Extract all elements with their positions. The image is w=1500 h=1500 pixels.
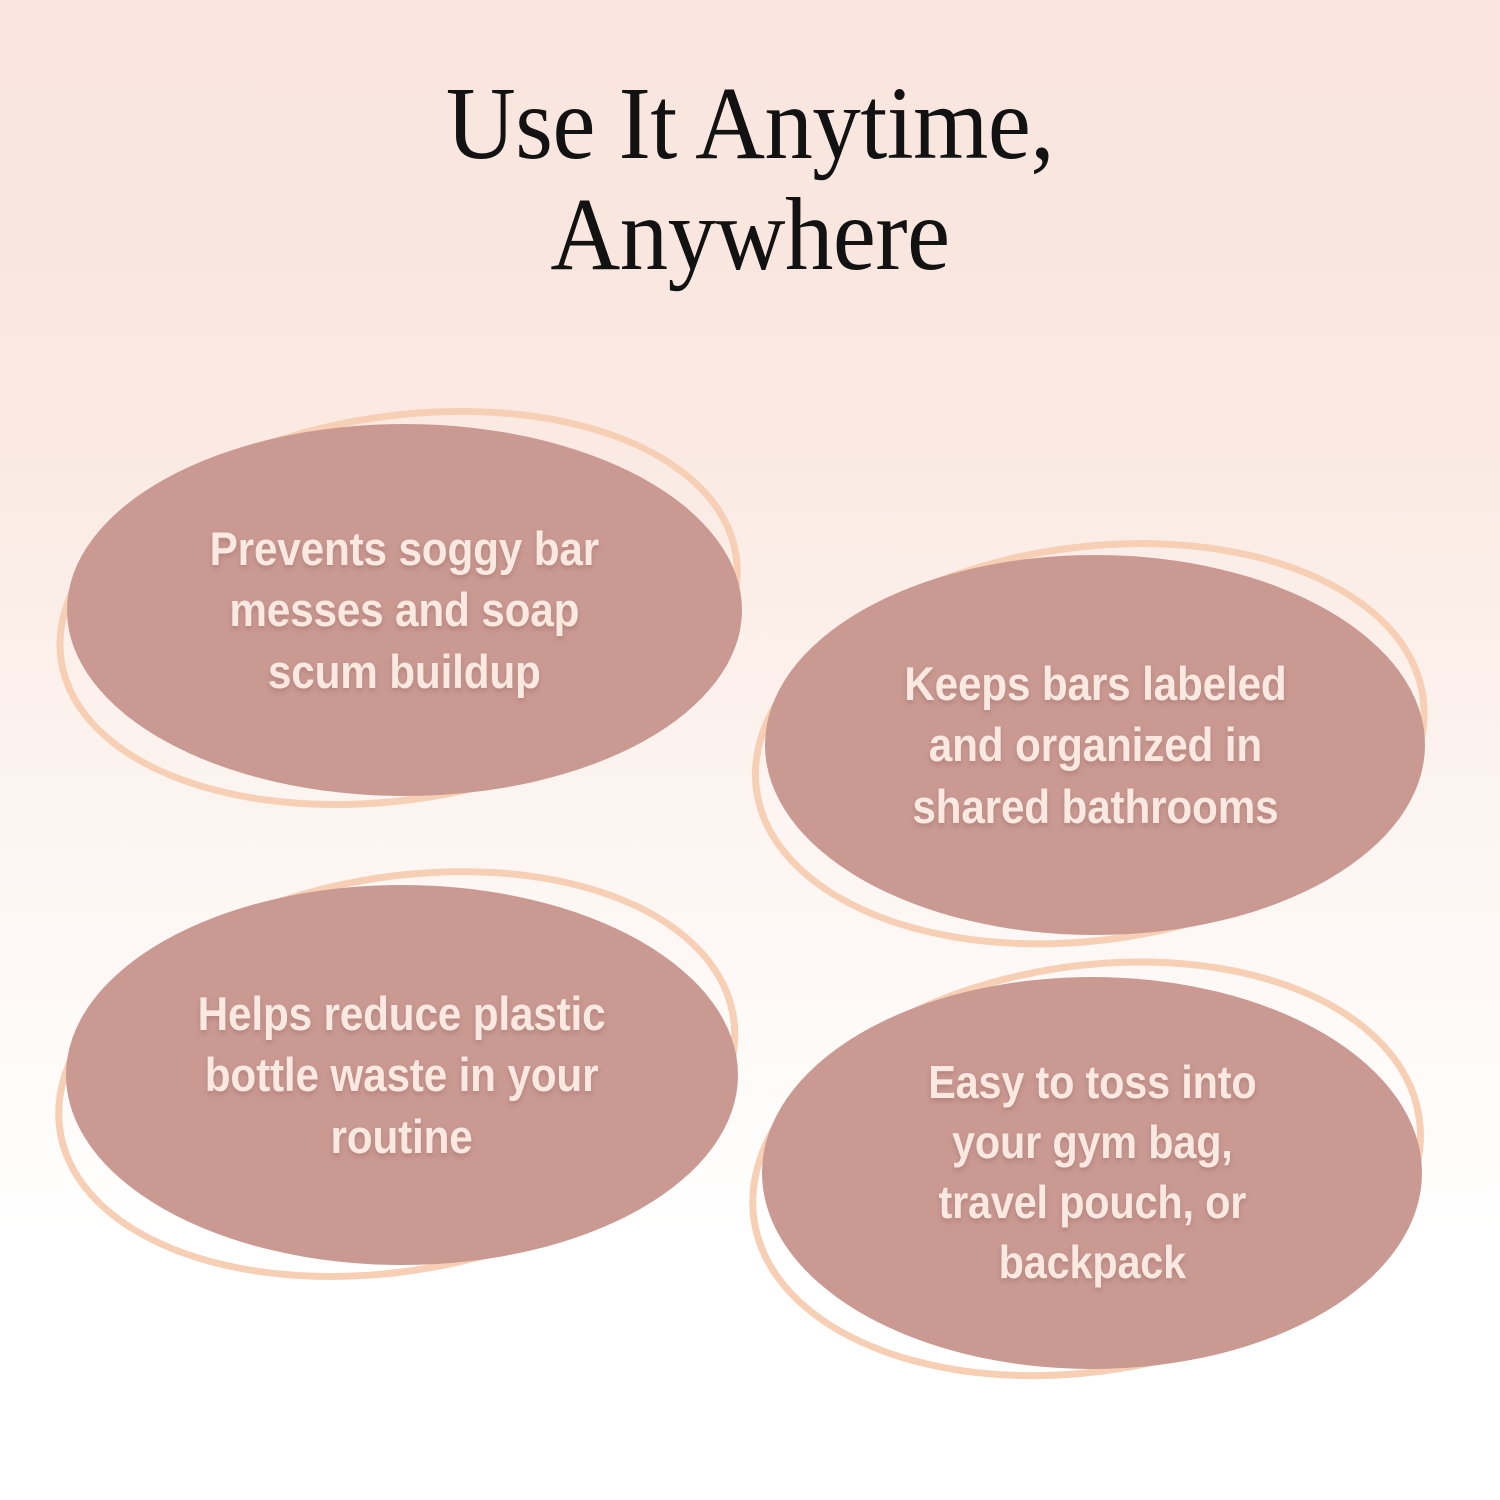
page-title: Use It Anytime, Anywhere — [0, 68, 1500, 291]
benefit-bubble-helps-reduce-plastic-waste: Helps reduce plastic bottle waste in you… — [58, 875, 748, 1275]
benefit-bubble-prevents-soggy-bar-messes: Prevents soggy bar messes and soap scum … — [60, 415, 750, 805]
bubble-fill: Helps reduce plastic bottle waste in you… — [66, 885, 738, 1265]
bubble-fill: Keeps bars labeled and organized in shar… — [765, 555, 1425, 935]
benefit-bubble-label: Easy to toss into your gym bag, travel p… — [922, 1053, 1261, 1292]
bubble-fill: Prevents soggy bar messes and soap scum … — [67, 424, 742, 796]
bubble-fill: Easy to toss into your gym bag, travel p… — [762, 977, 1422, 1369]
page-title-line-2: Anywhere — [53, 179, 1448, 290]
benefit-bubble-label: Prevents soggy bar messes and soap scum … — [204, 518, 604, 701]
benefit-bubble-label: Keeps bars labeled and organized in shar… — [898, 653, 1291, 836]
benefit-bubble-easy-to-toss-into-bag: Easy to toss into your gym bag, travel p… — [752, 965, 1432, 1377]
benefit-bubble-keeps-bars-labeled: Keeps bars labeled and organized in shar… — [755, 545, 1435, 945]
page-title-line-1: Use It Anytime, — [53, 68, 1448, 179]
benefit-bubble-label: Helps reduce plastic bottle waste in you… — [193, 983, 612, 1166]
infographic-canvas: Use It Anytime, Anywhere Prevents soggy … — [0, 0, 1500, 1500]
